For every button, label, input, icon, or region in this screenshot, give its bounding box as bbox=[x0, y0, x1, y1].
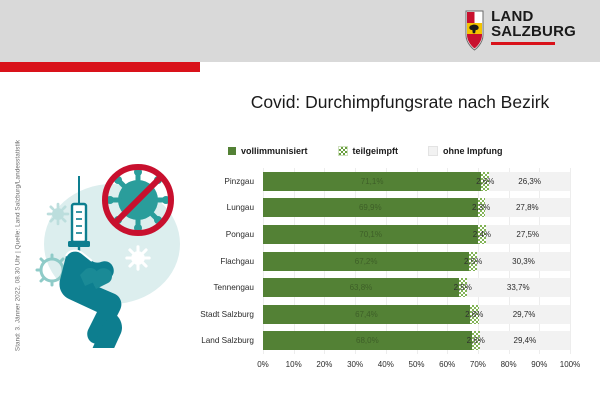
bar-segment-teilgeimpft bbox=[472, 331, 480, 350]
table-row: Land Salzburg68,0%29,4%2,6% bbox=[263, 331, 570, 350]
bar-value-label: 67,2% bbox=[263, 252, 469, 271]
vaccination-illustration bbox=[26, 152, 202, 348]
bar-segment-teilgeimpft bbox=[478, 198, 485, 217]
x-tick-label: 70% bbox=[470, 360, 486, 369]
bar-segment-ohne-impfung: 30,3% bbox=[477, 252, 570, 271]
bar-value-label: 70,1% bbox=[263, 225, 478, 244]
chart-title: Covid: Durchimpfungsrate nach Bezirk bbox=[218, 92, 582, 113]
bar-segment-vollimmunisiert: 67,4% bbox=[263, 305, 470, 324]
chart-legend: vollimmunisiert teilgeimpft ohne Impfung bbox=[228, 146, 568, 156]
bar-segment-ohne-impfung: 33,7% bbox=[467, 278, 570, 297]
x-tick-label: 60% bbox=[439, 360, 455, 369]
x-tick-label: 10% bbox=[286, 360, 302, 369]
bar-value-label: 69,9% bbox=[263, 198, 478, 217]
legend-swatch-ohne-impfung bbox=[428, 146, 438, 156]
bar-segment-ohne-impfung: 27,8% bbox=[485, 198, 570, 217]
legend-item-vollimmunisiert[interactable]: vollimmunisiert bbox=[228, 146, 308, 156]
bar-segment-vollimmunisiert: 67,2% bbox=[263, 252, 469, 271]
x-tick-label: 40% bbox=[378, 360, 394, 369]
table-row: Flachgau67,2%30,3%2,5% bbox=[263, 252, 570, 271]
x-tick-label: 80% bbox=[501, 360, 517, 369]
category-label: Flachgau bbox=[220, 252, 263, 271]
bar-segment-teilgeimpft bbox=[481, 172, 489, 191]
bar-segment-ohne-impfung: 29,4% bbox=[480, 331, 570, 350]
x-tick-label: 30% bbox=[347, 360, 363, 369]
legend-item-ohne-impfung[interactable]: ohne Impfung bbox=[428, 146, 503, 156]
table-row: Pongau70,1%27,5%2,4% bbox=[263, 225, 570, 244]
bar-segment-teilgeimpft bbox=[478, 225, 485, 244]
legend-label-ohne-impfung: ohne Impfung bbox=[443, 146, 503, 156]
bar-segment-ohne-impfung: 26,3% bbox=[489, 172, 570, 191]
legend-swatch-vollimmunisiert bbox=[228, 147, 236, 155]
bar-segment-vollimmunisiert: 71,1% bbox=[263, 172, 481, 191]
red-accent-band bbox=[0, 62, 200, 72]
chart-bars: Pinzgau71,1%26,3%2,6%Lungau69,9%27,8%2,3… bbox=[263, 168, 570, 354]
bar-segment-teilgeimpft bbox=[469, 252, 477, 271]
x-tick-label: 0% bbox=[257, 360, 269, 369]
bar-value-label: 67,4% bbox=[263, 305, 470, 324]
category-label: Pinzgau bbox=[224, 172, 263, 191]
bar-segment-ohne-impfung: 29,7% bbox=[479, 305, 570, 324]
legend-label-teilgeimpft: teilgeimpft bbox=[353, 146, 399, 156]
category-label: Pongau bbox=[226, 225, 263, 244]
bar-value-label: 29,7% bbox=[479, 305, 570, 324]
table-row: Lungau69,9%27,8%2,3% bbox=[263, 198, 570, 217]
bar-value-label: 26,3% bbox=[489, 172, 570, 191]
crossed-out-virus-icon bbox=[105, 167, 171, 233]
x-axis: 0%10%20%30%40%50%60%70%80%90%100% bbox=[263, 360, 570, 374]
source-note: Stand: 3. Jänner 2022, 08.30 Uhr | Quell… bbox=[15, 116, 22, 376]
bar-value-label: 30,3% bbox=[477, 252, 570, 271]
bar-segment-vollimmunisiert: 68,0% bbox=[263, 331, 472, 350]
logo-underline bbox=[491, 42, 555, 45]
x-tick-label: 20% bbox=[316, 360, 332, 369]
bar-segment-teilgeimpft bbox=[470, 305, 479, 324]
x-tick-label: 100% bbox=[560, 360, 580, 369]
bar-value-label: 27,5% bbox=[486, 225, 570, 244]
chart-plot-area: Pinzgau71,1%26,3%2,6%Lungau69,9%27,8%2,3… bbox=[263, 168, 570, 354]
category-label: Tennengau bbox=[213, 278, 263, 297]
logo-line-salzburg: SALZBURG bbox=[491, 25, 576, 40]
bar-value-label: 33,7% bbox=[467, 278, 570, 297]
table-row: Stadt Salzburg67,4%29,7%2,8% bbox=[263, 305, 570, 324]
salzburg-coat-of-arms-icon bbox=[465, 10, 484, 51]
bar-segment-teilgeimpft bbox=[459, 278, 467, 297]
category-label: Land Salzburg bbox=[201, 331, 263, 350]
bar-value-label: 63,8% bbox=[263, 278, 459, 297]
table-row: Tennengau63,8%33,7%2,5% bbox=[263, 278, 570, 297]
bar-segment-ohne-impfung: 27,5% bbox=[486, 225, 570, 244]
gridline bbox=[570, 168, 571, 354]
legend-swatch-teilgeimpft bbox=[338, 146, 348, 156]
land-salzburg-logo: LAND SALZBURG bbox=[465, 10, 576, 51]
bar-segment-vollimmunisiert: 69,9% bbox=[263, 198, 478, 217]
bar-value-label: 68,0% bbox=[263, 331, 472, 350]
bar-segment-vollimmunisiert: 70,1% bbox=[263, 225, 478, 244]
bar-value-label: 71,1% bbox=[263, 172, 481, 191]
bar-segment-vollimmunisiert: 63,8% bbox=[263, 278, 459, 297]
x-tick-label: 50% bbox=[408, 360, 424, 369]
bar-value-label: 27,8% bbox=[485, 198, 570, 217]
legend-item-teilgeimpft[interactable]: teilgeimpft bbox=[338, 146, 399, 156]
category-label: Stadt Salzburg bbox=[200, 305, 263, 324]
x-tick-label: 90% bbox=[531, 360, 547, 369]
category-label: Lungau bbox=[227, 198, 263, 217]
bar-value-label: 29,4% bbox=[480, 331, 570, 350]
table-row: Pinzgau71,1%26,3%2,6% bbox=[263, 172, 570, 191]
legend-label-vollimmunisiert: vollimmunisiert bbox=[241, 146, 308, 156]
